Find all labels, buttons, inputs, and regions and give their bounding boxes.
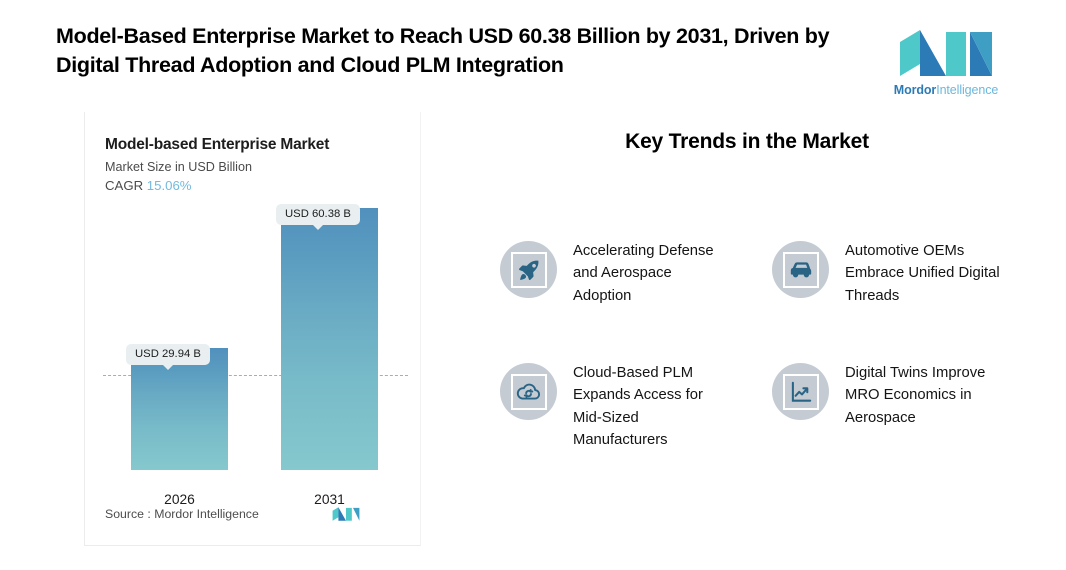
chart-cagr: CAGR 15.06%	[105, 178, 402, 193]
page-header: Model-Based Enterprise Market to Reach U…	[0, 0, 1066, 110]
mordor-m-logo-icon	[332, 505, 360, 523]
source-prefix: Source :	[105, 507, 151, 521]
brand-logo: MordorIntelligence	[886, 28, 1006, 97]
cloud-sync-icon	[515, 378, 542, 405]
key-trends-panel: Key Trends in the Market Accelerating De…	[500, 130, 1066, 510]
trend-icon-circle	[500, 363, 557, 420]
chart-title: Model-based Enterprise Market	[105, 136, 402, 154]
chart-subtitle: Market Size in USD Billion	[105, 160, 402, 174]
page-title: Model-Based Enterprise Market to Reach U…	[56, 22, 886, 81]
brand-name-secondary: Intelligence	[936, 83, 998, 97]
trend-icon-circle	[772, 363, 829, 420]
trend-item: Accelerating Defense and Aerospace Adopt…	[500, 238, 762, 360]
bar-2031	[281, 208, 378, 470]
car-icon	[788, 257, 814, 283]
market-size-chart-card: Model-based Enterprise Market Market Siz…	[84, 112, 421, 546]
bar-2026	[131, 348, 228, 470]
source-name: Mordor Intelligence	[154, 507, 259, 521]
brand-name-primary: Mordor	[894, 83, 936, 97]
chart-source-row: Source : Mordor Intelligence	[105, 505, 402, 523]
trends-heading: Key Trends in the Market	[547, 130, 947, 154]
trend-label: Automotive OEMs Embrace Unified Digital …	[845, 238, 1005, 307]
trend-item: Automotive OEMs Embrace Unified Digital …	[772, 238, 1034, 360]
data-label-2031: USD 60.38 B	[276, 204, 360, 225]
trend-item: Cloud-Based PLM Expands Access for Mid-S…	[500, 360, 762, 482]
trend-item: Digital Twins Improve MRO Economics in A…	[772, 360, 1034, 482]
source-label: Source : Mordor Intelligence	[105, 507, 259, 521]
icon-frame	[511, 374, 547, 410]
cagr-label: CAGR	[105, 178, 143, 193]
trend-icon-circle	[772, 241, 829, 298]
bar-chart-plot: USD 29.94 B USD 60.38 B	[85, 208, 422, 488]
brand-wordmark: MordorIntelligence	[894, 83, 999, 97]
icon-frame	[783, 374, 819, 410]
trend-label: Cloud-Based PLM Expands Access for Mid-S…	[573, 360, 733, 452]
rocket-icon	[516, 257, 542, 283]
icon-frame	[511, 252, 547, 288]
mordor-m-logo-icon	[898, 28, 994, 78]
trend-icon-circle	[500, 241, 557, 298]
data-label-2026: USD 29.94 B	[126, 344, 210, 365]
trend-label: Digital Twins Improve MRO Economics in A…	[845, 360, 1005, 429]
cagr-value: 15.06%	[147, 178, 192, 193]
trends-grid: Accelerating Defense and Aerospace Adopt…	[500, 238, 1066, 482]
trend-label: Accelerating Defense and Aerospace Adopt…	[573, 238, 733, 307]
icon-frame	[783, 252, 819, 288]
chart-trend-up-icon	[788, 379, 814, 405]
